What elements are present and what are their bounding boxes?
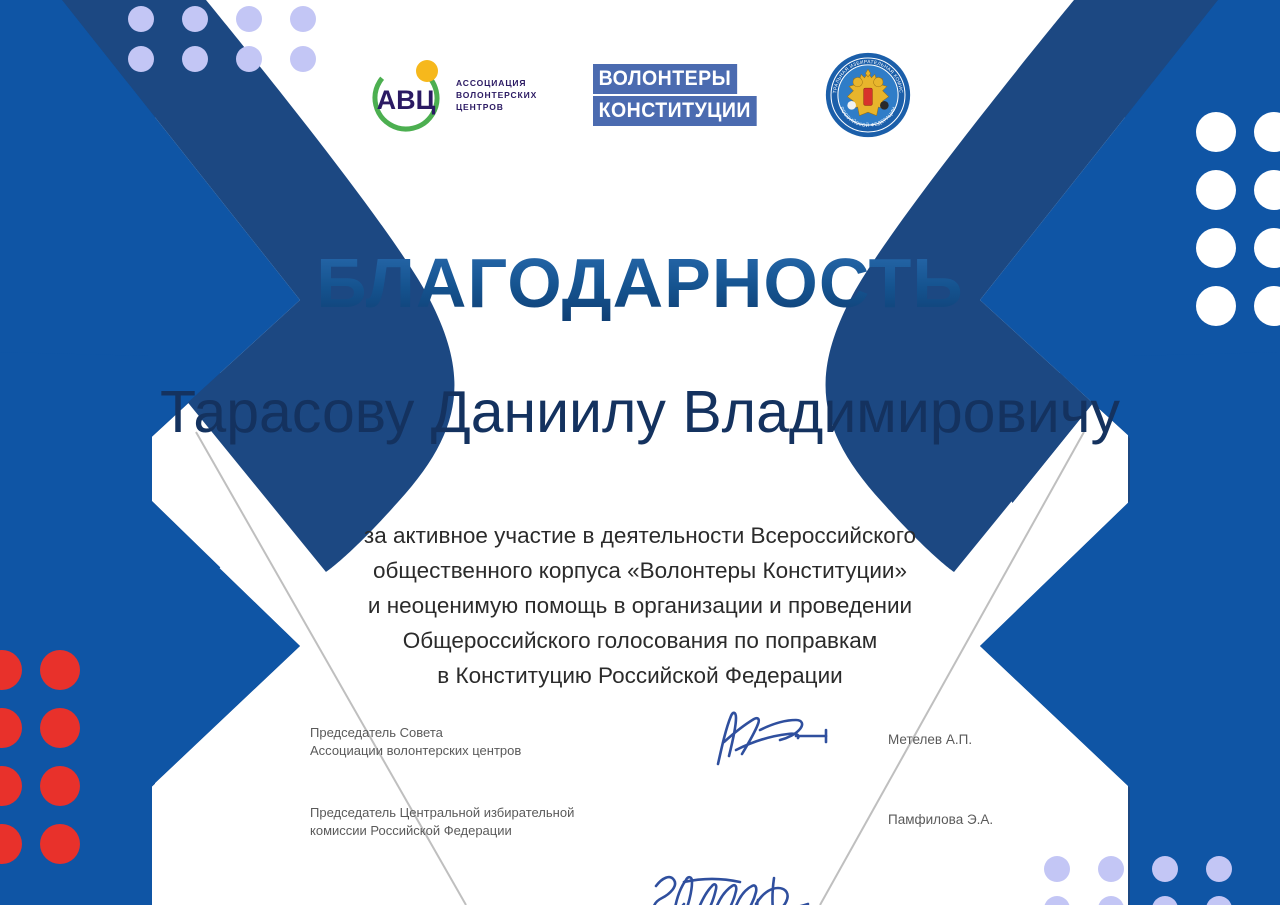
avc-caption: АССОЦИАЦИЯ ВОЛОНТЕРСКИХ ЦЕНТРОВ bbox=[456, 77, 537, 113]
page-title: БЛАГОДАРНОСТЬ bbox=[0, 243, 1280, 323]
avc-mark-icon: АВЦ bbox=[369, 56, 447, 134]
cik-orb bbox=[847, 101, 856, 110]
signatory-name: Метелев А.П. bbox=[888, 732, 972, 747]
cik-shield bbox=[864, 88, 873, 105]
vk-line-2: КОНСТИТУЦИИ bbox=[593, 96, 757, 126]
central-election-commission-emblem-icon: ЦЕНТРАЛЬНАЯ ИЗБИРАТЕЛЬНАЯ КОМИССИЯ РОССИ… bbox=[825, 52, 911, 138]
signature-metelev-icon bbox=[700, 702, 850, 782]
certificate-content: АВЦ АССОЦИАЦИЯ ВОЛОНТЕРСКИХ ЦЕНТРОВ ВОЛО… bbox=[0, 0, 1280, 905]
volunteers-of-constitution-logo: ВОЛОНТЕРЫ КОНСТИТУЦИИ bbox=[593, 64, 769, 126]
signatory-name: Памфилова Э.А. bbox=[888, 812, 993, 827]
signature-row: Председатель Совета Ассоциации волонтерс… bbox=[0, 718, 1280, 790]
citation-line: за активное участие в деятельности Всеро… bbox=[0, 518, 1280, 553]
avc-yellow-dot bbox=[416, 60, 438, 82]
vk-line-1: ВОЛОНТЕРЫ bbox=[593, 64, 737, 94]
citation-line: общественного корпуса «Волонтеры Констит… bbox=[0, 553, 1280, 588]
citation-line: Общероссийского голосования по поправкам bbox=[0, 623, 1280, 658]
citation-line: в Конституцию Российской Федерации bbox=[0, 658, 1280, 693]
certificate-page: АВЦ АССОЦИАЦИЯ ВОЛОНТЕРСКИХ ЦЕНТРОВ ВОЛО… bbox=[0, 0, 1280, 905]
signature-row: Председатель Центральной избирательной к… bbox=[0, 798, 1280, 870]
avc-monogram: АВЦ bbox=[377, 85, 436, 115]
signature-pamfilova-icon bbox=[640, 862, 815, 905]
citation-text: за активное участие в деятельности Всеро… bbox=[0, 518, 1280, 693]
avc-logo: АВЦ АССОЦИАЦИЯ ВОЛОНТЕРСКИХ ЦЕНТРОВ bbox=[369, 56, 537, 134]
citation-line: и неоценимую помощь в организации и пров… bbox=[0, 588, 1280, 623]
logo-row: АВЦ АССОЦИАЦИЯ ВОЛОНТЕРСКИХ ЦЕНТРОВ ВОЛО… bbox=[0, 52, 1280, 138]
signatory-role: Председатель Совета Ассоциации волонтерс… bbox=[310, 724, 521, 761]
cik-sceptre-orb bbox=[880, 101, 889, 110]
recipient-name: Тарасову Даниилу Владимировичу bbox=[0, 378, 1280, 446]
signatory-role: Председатель Центральной избирательной к… bbox=[310, 804, 574, 841]
